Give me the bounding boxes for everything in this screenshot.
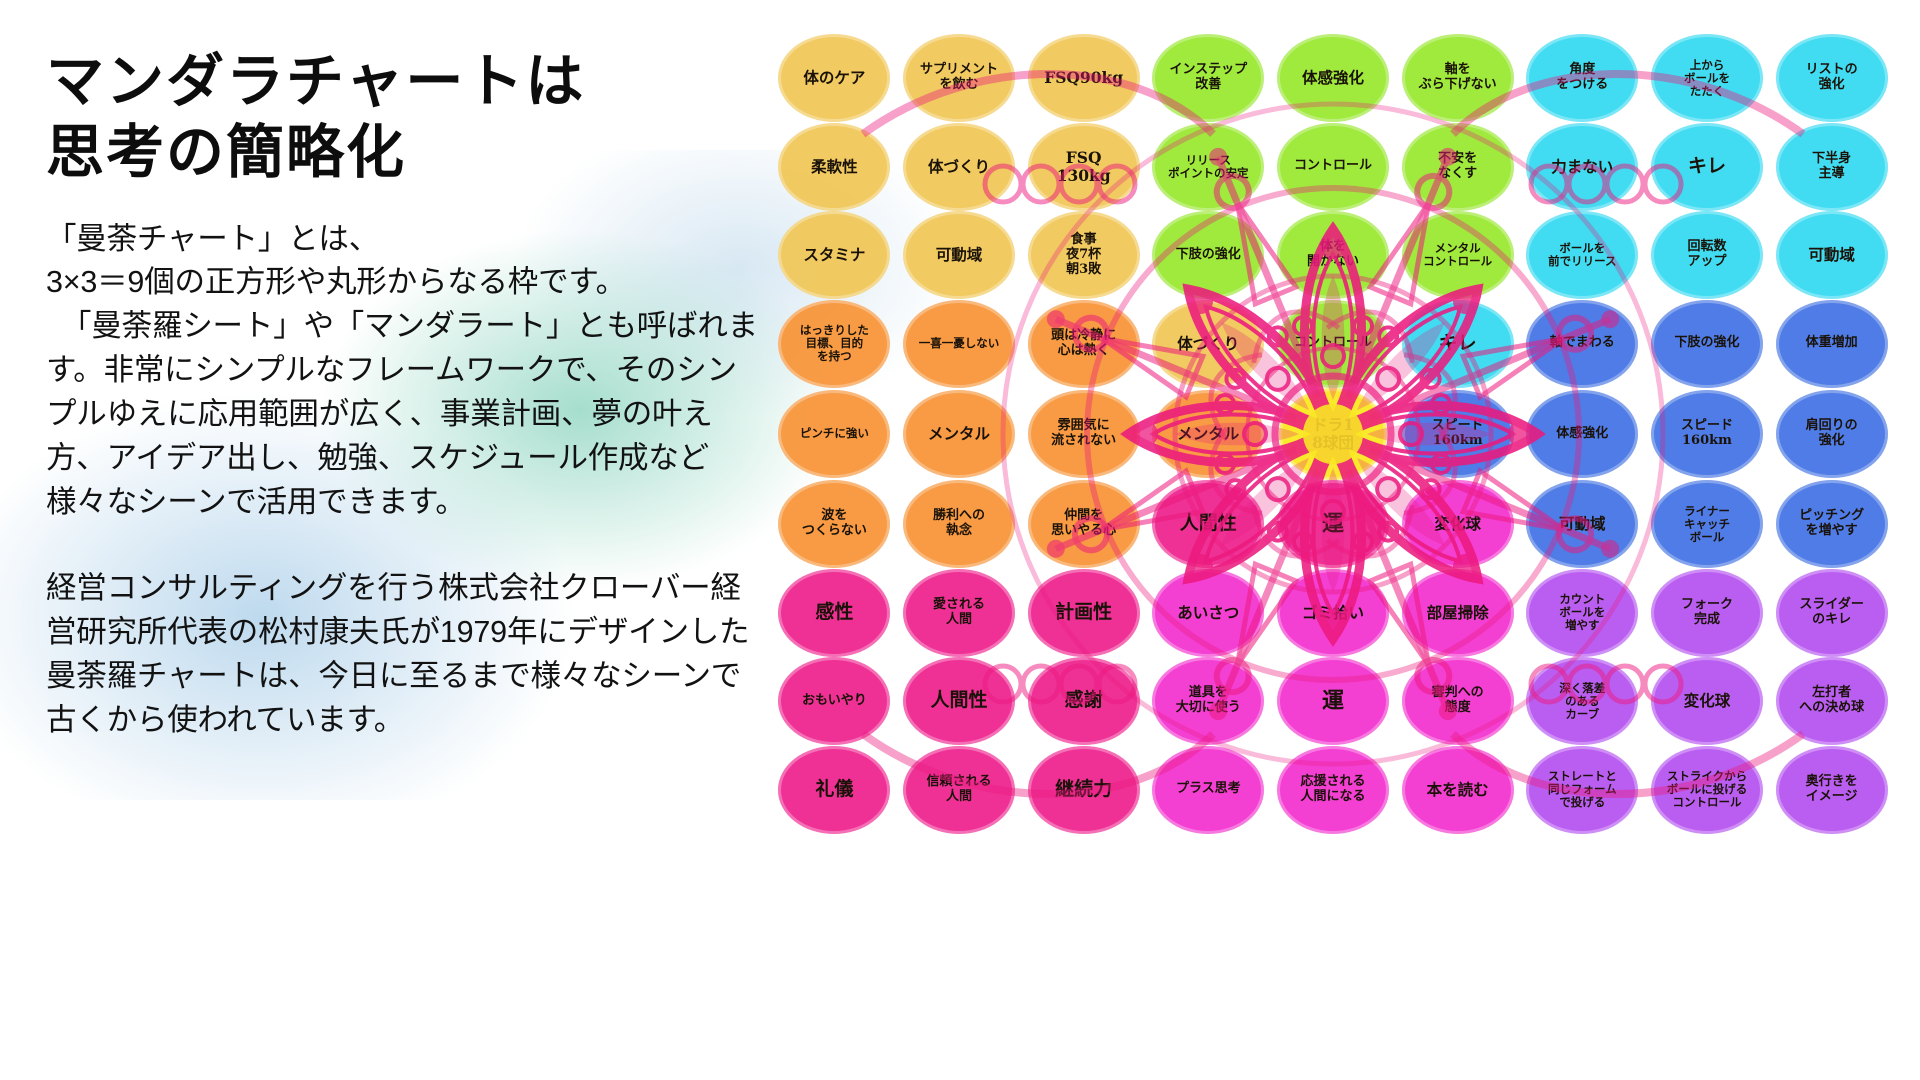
mandala-cell-1-3: FSQ90kg bbox=[1021, 34, 1146, 123]
mandala-cell-9-9: 奥行きを イメージ bbox=[1769, 746, 1894, 835]
mandala-bubble: メンタル bbox=[903, 390, 1015, 478]
mandala-cell-6-9: ピッチング を増やす bbox=[1769, 480, 1894, 569]
mandala-bubble: サプリメント を飲む bbox=[903, 34, 1015, 122]
mandala-cell-1-8: 上から ボールを たたく bbox=[1645, 34, 1770, 123]
mandala-bubble: 力まない bbox=[1526, 123, 1638, 211]
mandala-bubble: 運 bbox=[1277, 480, 1389, 568]
mandala-cell-3-5: 体を 開かない bbox=[1271, 211, 1396, 300]
mandala-bubble: 角度 をつける bbox=[1526, 34, 1638, 122]
mandala-bubble: 食事 夜7杯 朝3敗 bbox=[1028, 211, 1140, 299]
mandala-cell-5-9: 肩回りの 強化 bbox=[1769, 388, 1894, 480]
mandala-bubble: 計画性 bbox=[1028, 569, 1140, 657]
mandala-cell-5-8: スピード 160km bbox=[1645, 388, 1770, 480]
mandala-cell-6-2: 勝利への 執念 bbox=[897, 480, 1022, 569]
mandala-bubble: はっきりした 目標、目的 を持つ bbox=[778, 300, 890, 388]
mandala-cell-7-1: 感性 bbox=[772, 569, 897, 658]
mandala-bubble: 審判への 態度 bbox=[1402, 657, 1514, 745]
mandala-bubble: 下肢の強化 bbox=[1651, 300, 1763, 388]
mandala-cell-5-7: 体感強化 bbox=[1520, 388, 1645, 480]
mandala-cell-2-4: リリース ポイントの安定 bbox=[1146, 123, 1271, 212]
mandala-bubble: FSQ 130kg bbox=[1028, 123, 1140, 211]
mandala-cell-9-1: 礼儀 bbox=[772, 746, 897, 835]
mandala-bubble: 体づくり bbox=[1152, 300, 1264, 388]
mandala-bubble: 継続力 bbox=[1028, 746, 1140, 834]
mandala-cell-3-7: ボールを 前でリリース bbox=[1520, 211, 1645, 300]
mandala-cell-7-5: ゴミ拾い bbox=[1271, 569, 1396, 658]
mandala-cell-8-7: 深く落差 のある カーブ bbox=[1520, 657, 1645, 746]
mandala-cell-4-1: はっきりした 目標、目的 を持つ bbox=[772, 300, 897, 389]
mandala-bubble: 人間性 bbox=[903, 657, 1015, 745]
mandala-cell-2-2: 体づくり bbox=[897, 123, 1022, 212]
mandala-cell-6-3: 仲間を 思いやる心 bbox=[1021, 480, 1146, 569]
mandala-bubble: リリース ポイントの安定 bbox=[1152, 123, 1264, 211]
mandala-cell-6-8: ライナー キャッチ ボール bbox=[1645, 480, 1770, 569]
mandala-cell-8-1: おもいやり bbox=[772, 657, 897, 746]
mandala-cell-9-6: 本を読む bbox=[1395, 746, 1520, 835]
left-text-column: マンダラチャートは 思考の簡略化 「曼荼チャート」とは、 3×3＝9個の正方形や… bbox=[46, 46, 766, 742]
mandala-bubble: 軸を ぶら下げない bbox=[1402, 34, 1514, 122]
paragraph-1: 「曼荼チャート」とは、 3×3＝9個の正方形や丸形からなる枠です。 「曼荼羅シー… bbox=[46, 218, 766, 525]
mandala-bubble: 人間性 bbox=[1152, 480, 1264, 568]
mandala-bubble: コントロール bbox=[1277, 123, 1389, 211]
mandala-cell-3-3: 食事 夜7杯 朝3敗 bbox=[1021, 211, 1146, 300]
mandala-cell-2-7: 力まない bbox=[1520, 123, 1645, 212]
mandala-bubble: 不安を なくす bbox=[1402, 123, 1514, 211]
mandala-cell-3-1: スタミナ bbox=[772, 211, 897, 300]
mandala-bubble: 肩回りの 強化 bbox=[1776, 390, 1888, 478]
mandala-bubble: FSQ90kg bbox=[1028, 34, 1140, 122]
slide-canvas: マンダラチャートは 思考の簡略化 「曼荼チャート」とは、 3×3＝9個の正方形や… bbox=[0, 0, 1920, 1080]
mandala-bubble: フォーク 完成 bbox=[1651, 569, 1763, 657]
mandala-cell-1-6: 軸を ぶら下げない bbox=[1395, 34, 1520, 123]
mandala-cell-9-7: ストレートと 同じフォーム で投げる bbox=[1520, 746, 1645, 835]
mandala-cell-7-3: 計画性 bbox=[1021, 569, 1146, 658]
mandala-bubble: プラス思考 bbox=[1152, 746, 1264, 834]
mandala-bubble: 奥行きを イメージ bbox=[1776, 746, 1888, 834]
mandala-cell-4-8: 下肢の強化 bbox=[1645, 300, 1770, 389]
mandala-bubble: 可動域 bbox=[1776, 211, 1888, 299]
mandala-cell-9-3: 継続力 bbox=[1021, 746, 1146, 835]
mandala-cell-2-9: 下半身 主導 bbox=[1769, 123, 1894, 212]
mandala-bubble: スライダー のキレ bbox=[1776, 569, 1888, 657]
mandala-cell-6-4: 人間性 bbox=[1146, 480, 1271, 569]
mandala-cell-5-1: ピンチに強い bbox=[772, 388, 897, 480]
mandala-bubble: 可動域 bbox=[903, 211, 1015, 299]
mandala-bubble: 頭は冷静に 心は熱く bbox=[1028, 300, 1140, 388]
mandala-bubble: 信頼される 人間 bbox=[903, 746, 1015, 834]
body-copy: 「曼荼チャート」とは、 3×3＝9個の正方形や丸形からなる枠です。 「曼荼羅シー… bbox=[46, 218, 766, 743]
mandala-cell-2-6: 不安を なくす bbox=[1395, 123, 1520, 212]
mandala-cell-9-8: ストライクから ボールに投げる コントロール bbox=[1645, 746, 1770, 835]
mandala-bubble: 左打者 への決め球 bbox=[1776, 657, 1888, 745]
mandala-cell-3-9: 可動域 bbox=[1769, 211, 1894, 300]
mandala-bubble: 雰囲気に 流されない bbox=[1028, 390, 1140, 478]
mandala-cell-1-9: リストの 強化 bbox=[1769, 34, 1894, 123]
mandala-cell-7-6: 部屋掃除 bbox=[1395, 569, 1520, 658]
mandala-cell-4-6: キレ bbox=[1395, 300, 1520, 389]
mandala-bubble: メンタル コントロール bbox=[1402, 211, 1514, 299]
mandala-bubble: 回転数 アップ bbox=[1651, 211, 1763, 299]
mandala-cell-5-2: メンタル bbox=[897, 388, 1022, 480]
mandala-bubble: 体を 開かない bbox=[1277, 211, 1389, 299]
mandala-cell-4-3: 頭は冷静に 心は熱く bbox=[1021, 300, 1146, 389]
mandala-bubble: カウント ボールを 増やす bbox=[1526, 569, 1638, 657]
mandala-cell-6-1: 波を つくらない bbox=[772, 480, 897, 569]
mandala-cell-9-5: 応援される 人間になる bbox=[1271, 746, 1396, 835]
mandala-cell-1-4: インステップ 改善 bbox=[1146, 34, 1271, 123]
mandala-bubble: 礼儀 bbox=[778, 746, 890, 834]
mandala-bubble: 変化球 bbox=[1651, 657, 1763, 745]
mandala-bubble: 可動域 bbox=[1526, 480, 1638, 568]
mandala-bubble: ピッチング を増やす bbox=[1776, 480, 1888, 568]
page-title: マンダラチャートは 思考の簡略化 bbox=[46, 46, 766, 188]
mandala-chart: 体のケアサプリメント を飲むFSQ90kgインステップ 改善体感強化軸を ぶら下… bbox=[772, 34, 1894, 834]
mandala-bubble: 体感強化 bbox=[1277, 34, 1389, 122]
mandala-bubble: 道具を 大切に使う bbox=[1152, 657, 1264, 745]
mandala-bubble: スタミナ bbox=[778, 211, 890, 299]
mandala-cell-2-5: コントロール bbox=[1271, 123, 1396, 212]
mandala-bubble: 下半身 主導 bbox=[1776, 123, 1888, 211]
mandala-bubble: 体のケア bbox=[778, 34, 890, 122]
mandala-cell-5-6: スピード 160km bbox=[1395, 388, 1520, 480]
mandala-cell-8-2: 人間性 bbox=[897, 657, 1022, 746]
mandala-cell-2-1: 柔軟性 bbox=[772, 123, 897, 212]
mandala-bubble: キレ bbox=[1402, 300, 1514, 388]
mandala-cell-9-2: 信頼される 人間 bbox=[897, 746, 1022, 835]
mandala-bubble: 感性 bbox=[778, 569, 890, 657]
mandala-bubble: コントロール bbox=[1277, 300, 1389, 388]
mandala-bubble: ストライクから ボールに投げる コントロール bbox=[1651, 746, 1763, 834]
mandala-bubble: スピード 160km bbox=[1651, 390, 1763, 478]
mandala-bubble: ゴミ拾い bbox=[1277, 569, 1389, 657]
mandala-bubble: 下肢の強化 bbox=[1152, 211, 1264, 299]
mandala-cell-4-7: 軸でまわる bbox=[1520, 300, 1645, 389]
mandala-cell-6-7: 可動域 bbox=[1520, 480, 1645, 569]
mandala-cell-4-9: 体重増加 bbox=[1769, 300, 1894, 389]
mandala-bubble: 軸でまわる bbox=[1526, 300, 1638, 388]
mandala-cell-8-3: 感謝 bbox=[1021, 657, 1146, 746]
mandala-bubble: ボールを 前でリリース bbox=[1526, 211, 1638, 299]
mandala-bubble: 一喜一憂しない bbox=[903, 300, 1015, 388]
mandala-cell-1-7: 角度 をつける bbox=[1520, 34, 1645, 123]
mandala-cell-5-3: 雰囲気に 流されない bbox=[1021, 388, 1146, 480]
mandala-bubble: スピード 160km bbox=[1402, 390, 1514, 478]
mandala-cell-8-4: 道具を 大切に使う bbox=[1146, 657, 1271, 746]
mandala-bubble: 変化球 bbox=[1402, 480, 1514, 568]
mandala-bubble: おもいやり bbox=[778, 657, 890, 745]
mandala-cell-7-9: スライダー のキレ bbox=[1769, 569, 1894, 658]
mandala-grid: 体のケアサプリメント を飲むFSQ90kgインステップ 改善体感強化軸を ぶら下… bbox=[772, 34, 1894, 834]
mandala-bubble: 深く落差 のある カーブ bbox=[1526, 657, 1638, 745]
mandala-cell-3-4: 下肢の強化 bbox=[1146, 211, 1271, 300]
mandala-cell-7-7: カウント ボールを 増やす bbox=[1520, 569, 1645, 658]
mandala-cell-7-4: あいさつ bbox=[1146, 569, 1271, 658]
mandala-bubble: ピンチに強い bbox=[778, 390, 890, 478]
mandala-cell-1-2: サプリメント を飲む bbox=[897, 34, 1022, 123]
mandala-cell-4-4: 体づくり bbox=[1146, 300, 1271, 389]
mandala-bubble: 体づくり bbox=[903, 123, 1015, 211]
mandala-bubble: 本を読む bbox=[1402, 746, 1514, 834]
mandala-bubble: 愛される 人間 bbox=[903, 569, 1015, 657]
mandala-cell-8-8: 変化球 bbox=[1645, 657, 1770, 746]
mandala-bubble: 柔軟性 bbox=[778, 123, 890, 211]
mandala-bubble: 仲間を 思いやる心 bbox=[1028, 480, 1140, 568]
mandala-cell-8-5: 運 bbox=[1271, 657, 1396, 746]
mandala-cell-3-2: 可動域 bbox=[897, 211, 1022, 300]
mandala-cell-4-2: 一喜一憂しない bbox=[897, 300, 1022, 389]
mandala-bubble: 感謝 bbox=[1028, 657, 1140, 745]
mandala-cell-2-8: キレ bbox=[1645, 123, 1770, 212]
mandala-cell-8-9: 左打者 への決め球 bbox=[1769, 657, 1894, 746]
mandala-bubble: ストレートと 同じフォーム で投げる bbox=[1526, 746, 1638, 834]
mandala-bubble: 上から ボールを たたく bbox=[1651, 34, 1763, 122]
mandala-cell-3-6: メンタル コントロール bbox=[1395, 211, 1520, 300]
mandala-cell-9-4: プラス思考 bbox=[1146, 746, 1271, 835]
mandala-bubble: 体感強化 bbox=[1526, 390, 1638, 478]
mandala-cell-1-1: 体のケア bbox=[772, 34, 897, 123]
mandala-cell-5-4: メンタル bbox=[1146, 388, 1271, 480]
mandala-core-goal: ドラ1 8球団 bbox=[1279, 388, 1387, 480]
mandala-cell-7-2: 愛される 人間 bbox=[897, 569, 1022, 658]
mandala-bubble: リストの 強化 bbox=[1776, 34, 1888, 122]
mandala-bubble: インステップ 改善 bbox=[1152, 34, 1264, 122]
mandala-cell-4-5: コントロール bbox=[1271, 300, 1396, 389]
mandala-cell-1-5: 体感強化 bbox=[1271, 34, 1396, 123]
mandala-bubble: ライナー キャッチ ボール bbox=[1651, 480, 1763, 568]
mandala-bubble: 応援される 人間になる bbox=[1277, 746, 1389, 834]
mandala-bubble: あいさつ bbox=[1152, 569, 1264, 657]
mandala-cell-2-3: FSQ 130kg bbox=[1021, 123, 1146, 212]
paragraph-2: 経営コンサルティングを行う株式会社クローバー経営研究所代表の松村康夫氏が1979… bbox=[46, 567, 766, 743]
mandala-cell-8-6: 審判への 態度 bbox=[1395, 657, 1520, 746]
mandala-cell-3-8: 回転数 アップ bbox=[1645, 211, 1770, 300]
mandala-bubble: キレ bbox=[1651, 123, 1763, 211]
mandala-bubble: 部屋掃除 bbox=[1402, 569, 1514, 657]
mandala-bubble: 勝利への 執念 bbox=[903, 480, 1015, 568]
mandala-bubble: メンタル bbox=[1152, 390, 1264, 478]
mandala-cell-5-5: ドラ1 8球団 bbox=[1271, 388, 1396, 480]
mandala-cell-7-8: フォーク 完成 bbox=[1645, 569, 1770, 658]
mandala-bubble: 波を つくらない bbox=[778, 480, 890, 568]
mandala-cell-6-5: 運 bbox=[1271, 480, 1396, 569]
mandala-cell-6-6: 変化球 bbox=[1395, 480, 1520, 569]
mandala-bubble: 運 bbox=[1277, 657, 1389, 745]
mandala-bubble: 体重増加 bbox=[1776, 300, 1888, 388]
